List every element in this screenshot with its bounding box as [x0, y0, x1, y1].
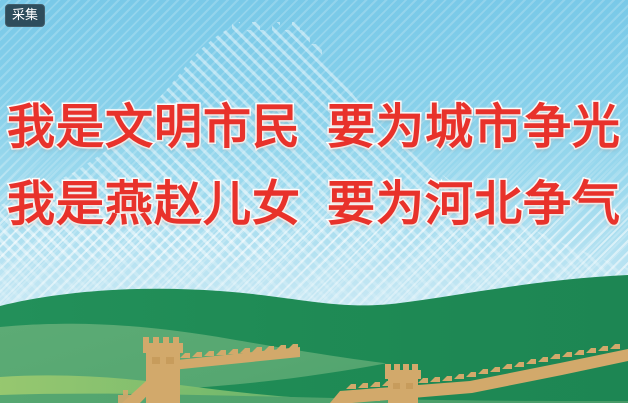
- slogan-line-2-left: 我是燕赵儿女: [7, 176, 301, 232]
- propaganda-banner: 我是文明市民要为城市争光 我是燕赵儿女要为河北争气 采集: [0, 0, 628, 403]
- slogan-line-1: 我是文明市民要为城市争光: [0, 103, 628, 151]
- collect-badge-label: 采集: [12, 8, 38, 23]
- slogan-line-1-left: 我是文明市民: [7, 99, 301, 155]
- slogan-line-1-right: 要为城市争光: [327, 99, 621, 155]
- great-wall-watermark-icon: [0, 0, 628, 310]
- green-hills-landscape: [0, 273, 628, 403]
- collect-badge[interactable]: 采集: [5, 4, 45, 27]
- slogan-line-2-right: 要为河北争气: [327, 176, 621, 232]
- slogan-line-2: 我是燕赵儿女要为河北争气: [0, 180, 628, 228]
